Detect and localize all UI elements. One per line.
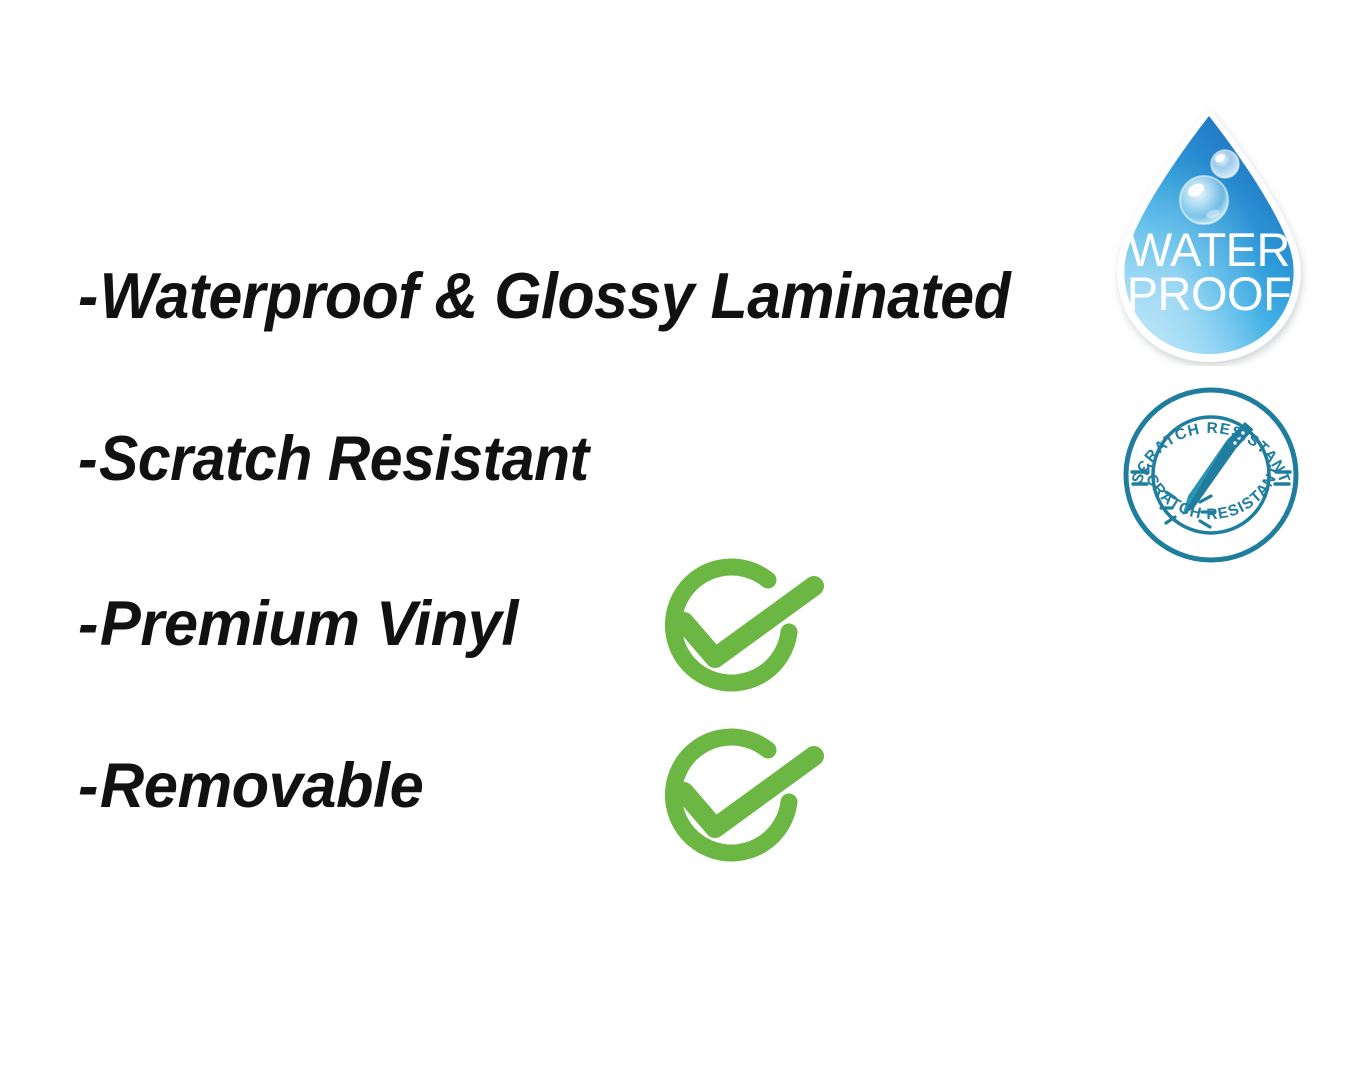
- check-mark-removable: [636, 722, 834, 882]
- feature-item-waterproof-glossy-laminated: -Waterproof & Glossy Laminated: [78, 258, 1010, 333]
- feature-item-removable: -Removable: [78, 750, 423, 822]
- bubble-large-icon: [1180, 176, 1228, 224]
- feature-item-premium-vinyl: -Premium Vinyl: [78, 588, 518, 660]
- bullet-dash: -: [78, 588, 98, 660]
- scratch-resistant-badge: SCRATCH RESISTANT SCRATCH RESISTANT: [1112, 386, 1310, 564]
- bullet-dash: -: [78, 750, 98, 822]
- feature-label: Removable: [100, 750, 423, 822]
- check-mark-premium-vinyl: [636, 552, 834, 712]
- waterproof-line2: PROOF: [1127, 267, 1292, 320]
- product-feature-graphic: -Waterproof & Glossy Laminated -Scratch …: [0, 0, 1359, 1080]
- check-tick-icon: [684, 756, 814, 828]
- bullet-dash: -: [78, 258, 98, 333]
- bubble-small-icon: [1211, 150, 1239, 178]
- waterproof-badge: WATER PROOF: [1101, 104, 1317, 366]
- feature-label: Waterproof & Glossy Laminated: [100, 258, 1011, 333]
- bullet-dash: -: [78, 423, 97, 495]
- feature-label: Premium Vinyl: [100, 588, 518, 660]
- feature-item-scratch-resistant: -Scratch Resistant: [78, 423, 589, 495]
- check-tick-icon: [684, 586, 814, 658]
- feature-label: Scratch Resistant: [99, 423, 589, 495]
